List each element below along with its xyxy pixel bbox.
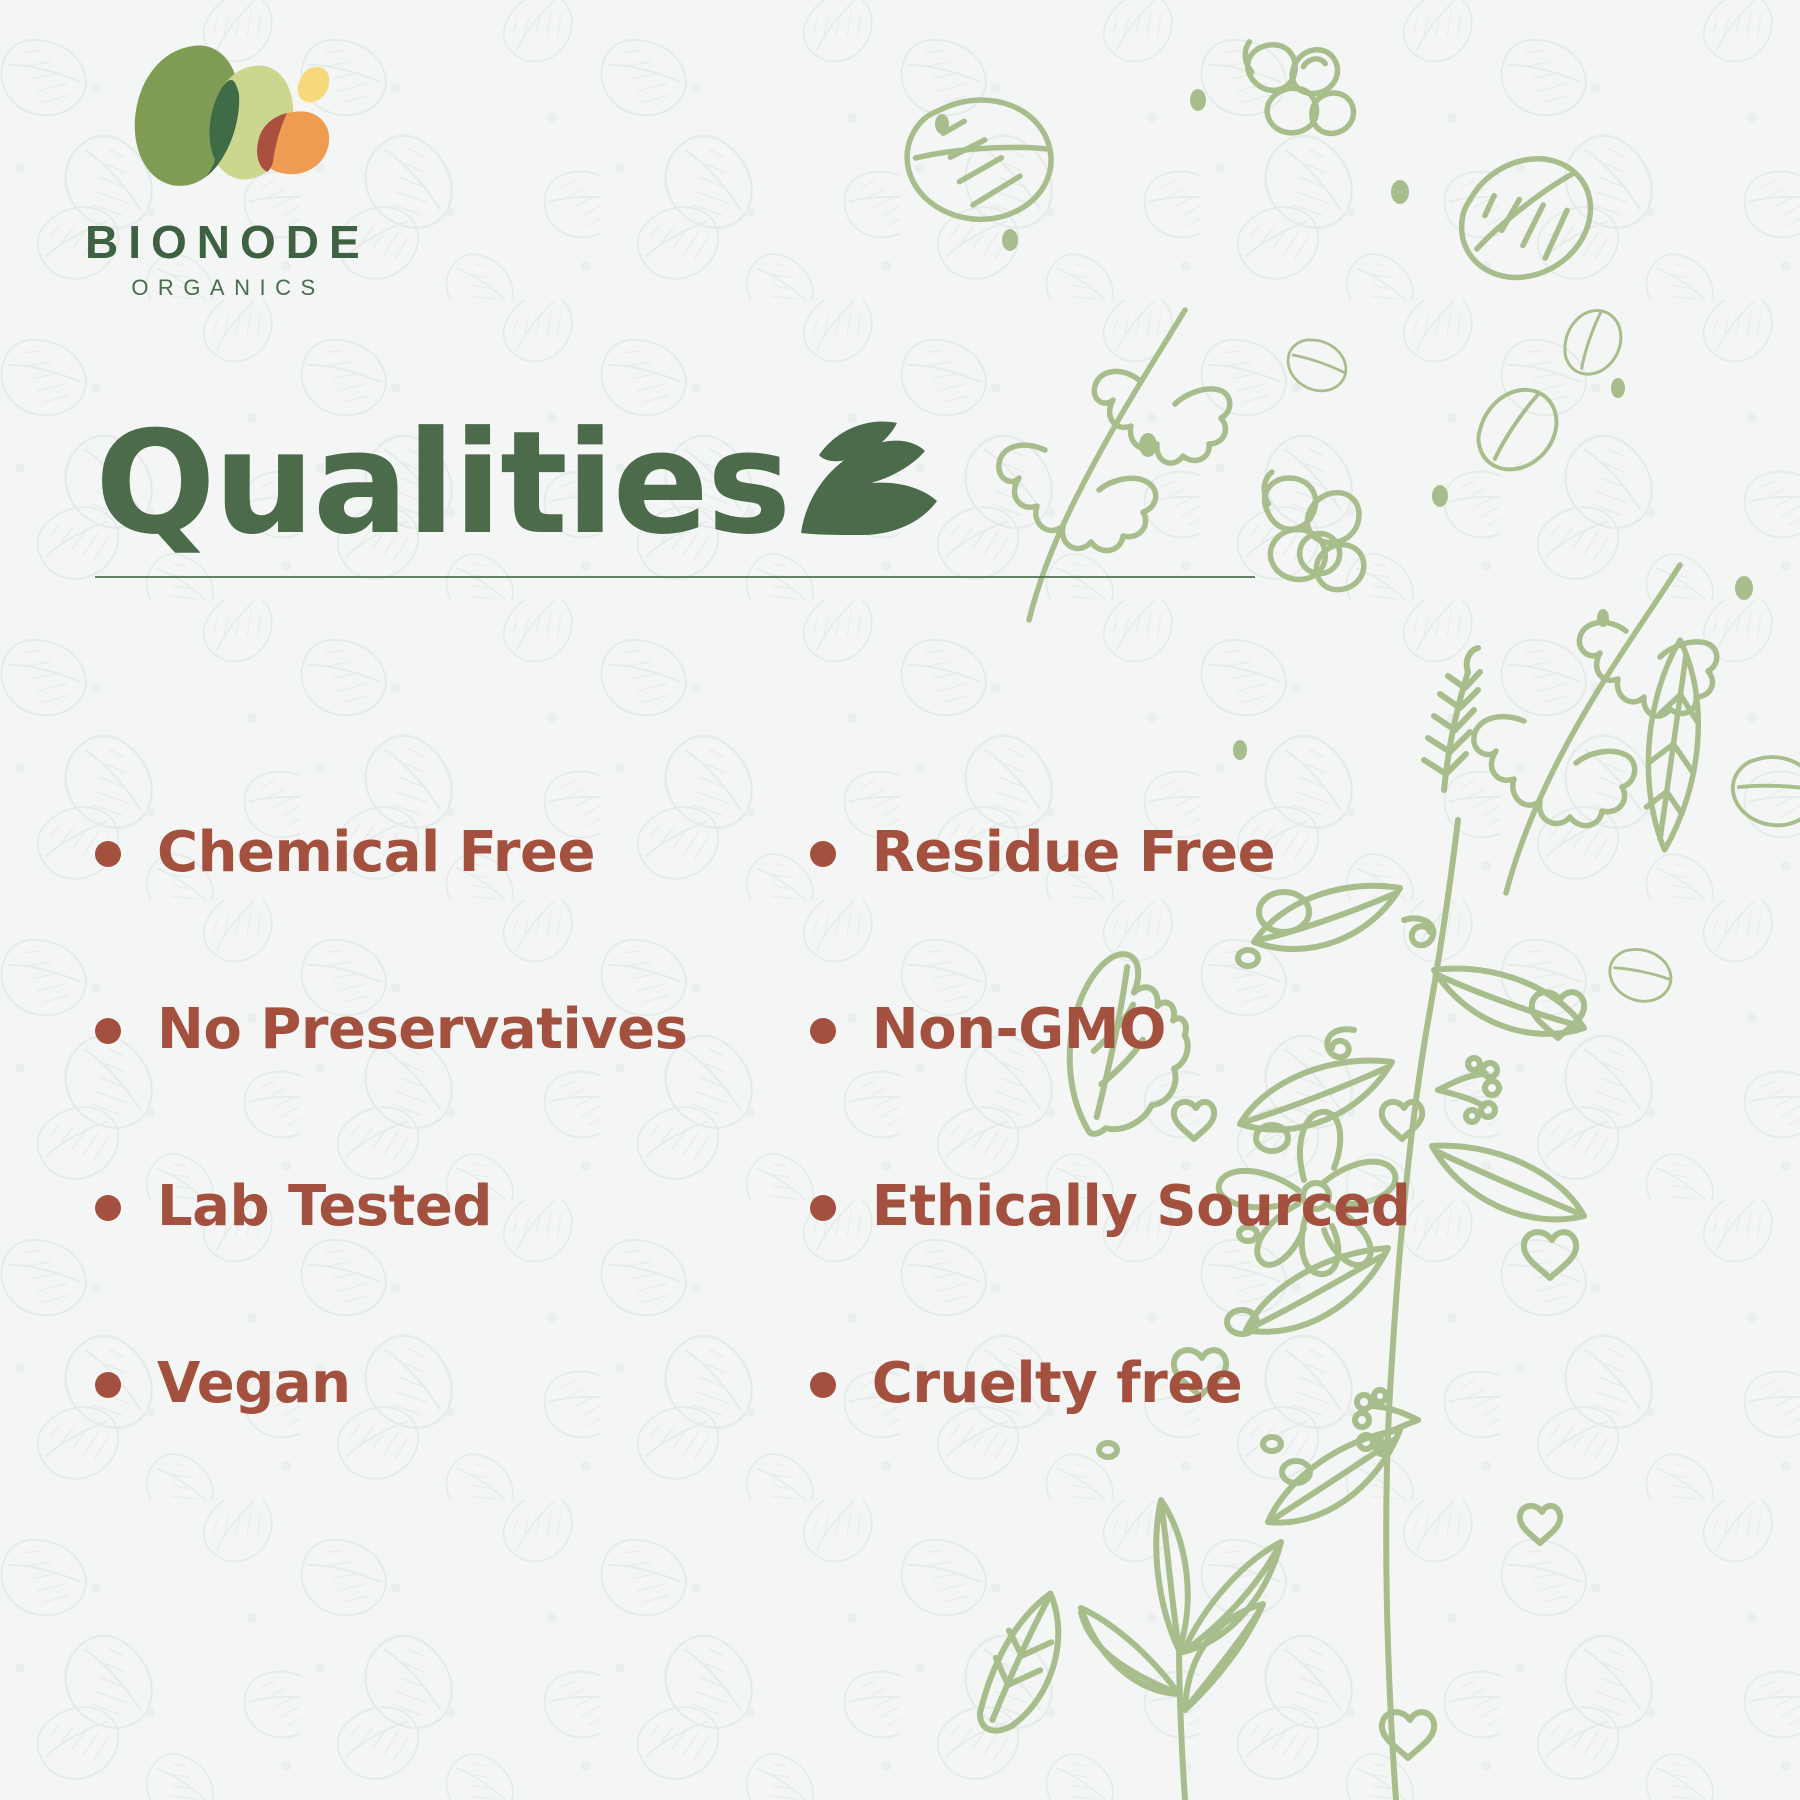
list-item-label: Non-GMO: [872, 1002, 1166, 1058]
brand-logo[interactable]: BIONODE ORGANICS: [85, 40, 415, 299]
leaf-icon: [793, 421, 953, 536]
organic-blob-leaves-logo-mark: [115, 40, 345, 205]
bullet-dot-icon: [95, 841, 121, 867]
list-item-label: No Preservatives: [157, 1002, 687, 1058]
list-item-label: Ethically Sourced: [872, 1179, 1411, 1235]
bullet-dot-icon: [95, 1018, 121, 1044]
list-row: No Preservatives Non-GMO: [95, 1002, 1475, 1179]
heading-row: Qualities: [95, 415, 1275, 550]
bullet-dot-icon: [810, 1372, 836, 1398]
brand-subtitle: ORGANICS: [85, 277, 365, 299]
list-row: Lab Tested Ethically Sourced: [95, 1179, 1475, 1356]
list-row: Chemical Free Residue Free: [95, 825, 1475, 1002]
list-row: Vegan Cruelty free: [95, 1356, 1475, 1533]
list-item[interactable]: No Preservatives: [95, 1002, 780, 1179]
list-item[interactable]: Residue Free: [780, 825, 1475, 1002]
list-item[interactable]: Cruelty free: [780, 1356, 1475, 1533]
list-item-label: Residue Free: [872, 825, 1275, 881]
content-layer: BIONODE ORGANICS Qualities Chemical Free: [0, 0, 1800, 1800]
list-item[interactable]: Ethically Sourced: [780, 1179, 1475, 1356]
list-item-label: Vegan: [157, 1356, 351, 1412]
heading-divider: [95, 576, 1255, 578]
list-item[interactable]: Vegan: [95, 1356, 780, 1533]
list-item-label: Cruelty free: [872, 1356, 1242, 1412]
brand-wordmark: BIONODE ORGANICS: [85, 219, 365, 299]
bullet-dot-icon: [95, 1195, 121, 1221]
poster-canvas: BIONODE ORGANICS Qualities Chemical Free: [0, 0, 1800, 1800]
list-item[interactable]: Non-GMO: [780, 1002, 1475, 1179]
bullet-dot-icon: [810, 841, 836, 867]
bullet-dot-icon: [95, 1372, 121, 1398]
heading-block: Qualities: [95, 415, 1275, 578]
list-item[interactable]: Lab Tested: [95, 1179, 780, 1356]
qualities-list: Chemical Free Residue Free No Preservati…: [95, 825, 1475, 1533]
list-item-label: Lab Tested: [157, 1179, 492, 1235]
brand-name: BIONODE: [85, 219, 365, 265]
page-title: Qualities: [95, 419, 789, 550]
bullet-dot-icon: [810, 1195, 836, 1221]
bullet-dot-icon: [810, 1018, 836, 1044]
list-item-label: Chemical Free: [157, 825, 595, 881]
list-item[interactable]: Chemical Free: [95, 825, 780, 1002]
